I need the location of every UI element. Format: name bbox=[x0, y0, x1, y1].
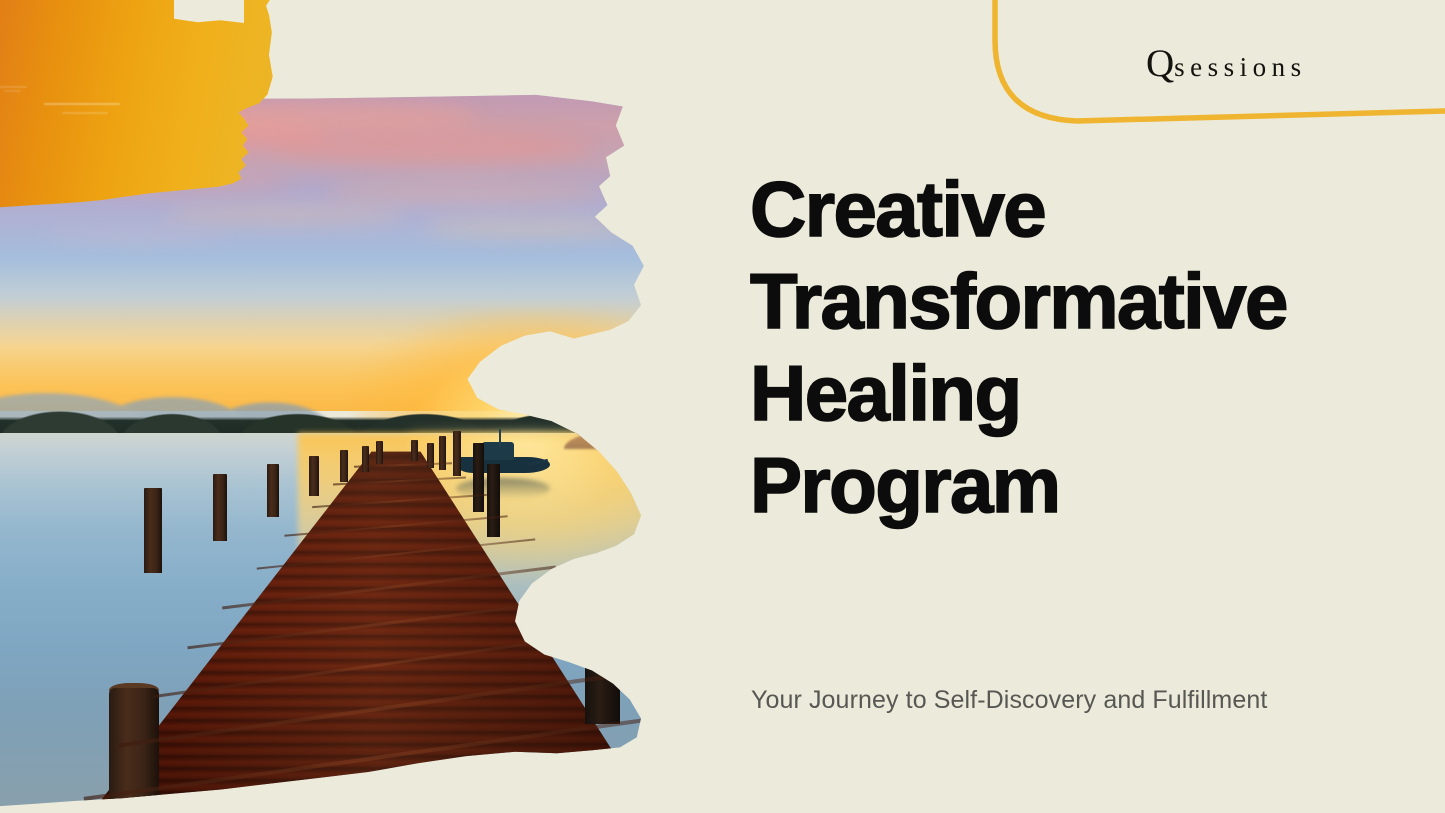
wooden-pier bbox=[0, 411, 690, 813]
orange-brush-stroke bbox=[0, 0, 282, 210]
pier-post bbox=[362, 446, 369, 472]
pier-post bbox=[487, 464, 500, 537]
brand-logo[interactable]: Qsessions bbox=[1146, 44, 1307, 83]
pier-post bbox=[144, 488, 162, 573]
pier-post bbox=[453, 431, 461, 476]
pier-post bbox=[411, 440, 417, 461]
logo-initial: Q bbox=[1146, 42, 1174, 85]
title-line-3: Healing bbox=[750, 347, 1390, 439]
pier-post bbox=[473, 443, 484, 512]
page-subtitle: Your Journey to Self-Discovery and Fulfi… bbox=[751, 686, 1267, 715]
presentation-slide: Qsessions Creative Transformative Healin… bbox=[0, 0, 1445, 813]
pier-post-foreground bbox=[585, 582, 620, 724]
pier-post bbox=[340, 450, 348, 482]
title-line-1: Creative bbox=[750, 163, 1390, 255]
pier-post bbox=[376, 441, 382, 463]
pier-post bbox=[309, 456, 319, 497]
pier-post bbox=[267, 464, 279, 517]
title-line-4: Program bbox=[750, 439, 1390, 531]
pier-post bbox=[439, 436, 446, 470]
pier-post bbox=[213, 474, 227, 541]
title-line-2: Transformative bbox=[750, 255, 1390, 347]
logo-wordmark: sessions bbox=[1174, 52, 1307, 82]
sunset-pier-photo bbox=[0, 92, 690, 813]
page-title: Creative Transformative Healing Program bbox=[750, 163, 1390, 531]
orange-brush-notch bbox=[174, 0, 244, 23]
